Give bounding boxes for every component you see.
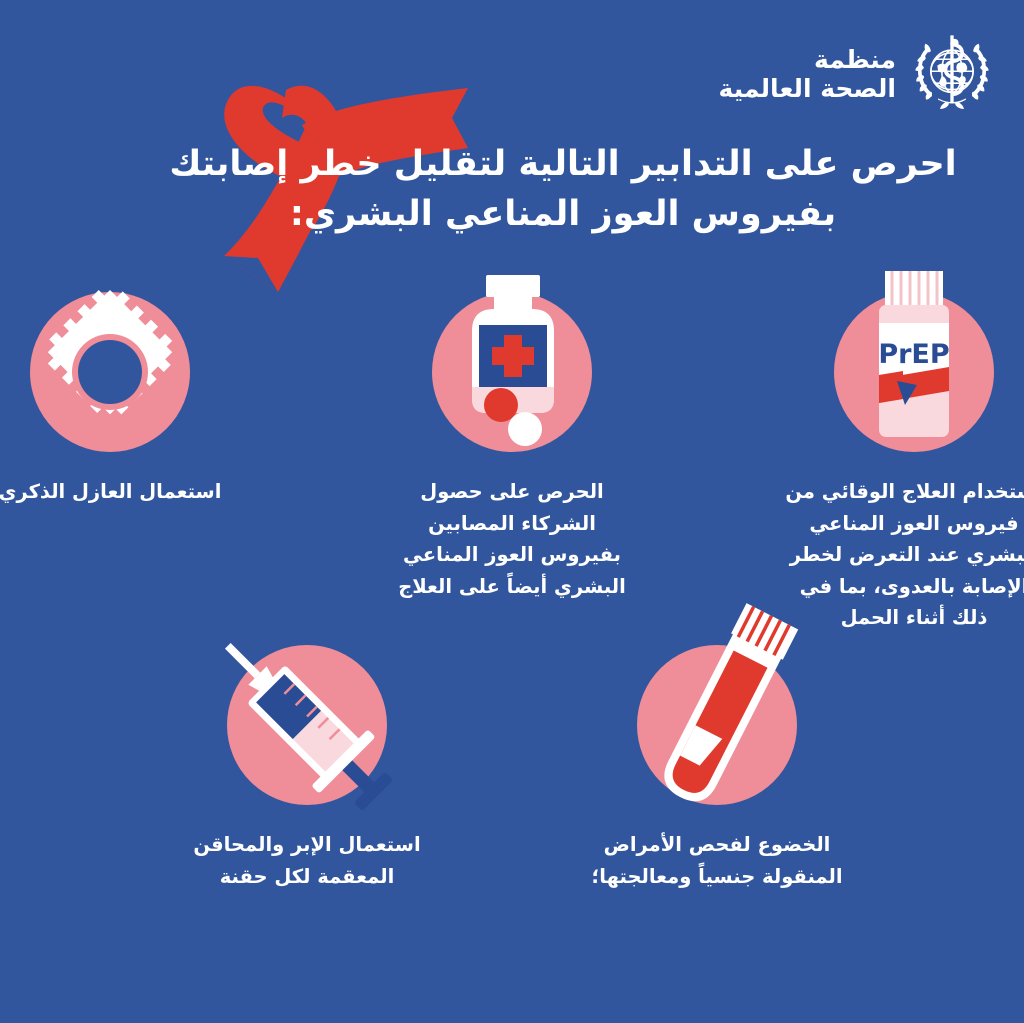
prevention-item-sterile-needles: استعمال الإبر والمحاقن المعقمة لكل حقنة [182, 645, 432, 892]
prevention-item-prep: PrEP استخدام العلاج الوقائي من فيروس الع… [789, 292, 1024, 634]
icon-disc-condom [30, 292, 190, 452]
medicine-bottle-icon [397, 257, 627, 487]
condom-wrapper-icon [0, 257, 225, 487]
prep-label-text: PrEP [878, 339, 949, 370]
prevention-item-condom: استعمال العازل الذكري [0, 292, 235, 634]
prevention-item-partners-treatment: الحرص على حصول الشركاء المصابين بفيروس ا… [387, 292, 637, 634]
prevention-row-top: استعمال العازل الذكري [0, 292, 1024, 634]
prevention-item-sti-screening: الخضوع لفحص الأمراض المنقولة جنسياً ومعا… [592, 645, 842, 892]
syringe-icon [192, 610, 422, 840]
who-logo: منظمة الصحة العالمية [719, 28, 998, 120]
blood-test-tube-icon [602, 610, 832, 840]
icon-disc-test-tube [637, 645, 797, 805]
prevention-row-bottom: استعمال الإبر والمحاقن المعقمة لكل حقنة [0, 645, 1024, 892]
prevention-caption: الحرص على حصول الشركاء المصابين بفيروس ا… [387, 476, 637, 602]
who-emblem-icon [906, 28, 998, 120]
who-wordmark: منظمة الصحة العالمية [719, 45, 896, 104]
icon-disc-prep: PrEP [834, 292, 994, 452]
prep-bottle-icon: PrEP [799, 257, 1024, 487]
icon-disc-syringe [227, 645, 387, 805]
icon-disc-medicine [432, 292, 592, 452]
infographic-poster: منظمة الصحة العالمية احرص على التدابير ا… [0, 0, 1024, 1023]
page-title: احرص على التدابير التالية لتقليل خطر إصا… [158, 140, 968, 239]
